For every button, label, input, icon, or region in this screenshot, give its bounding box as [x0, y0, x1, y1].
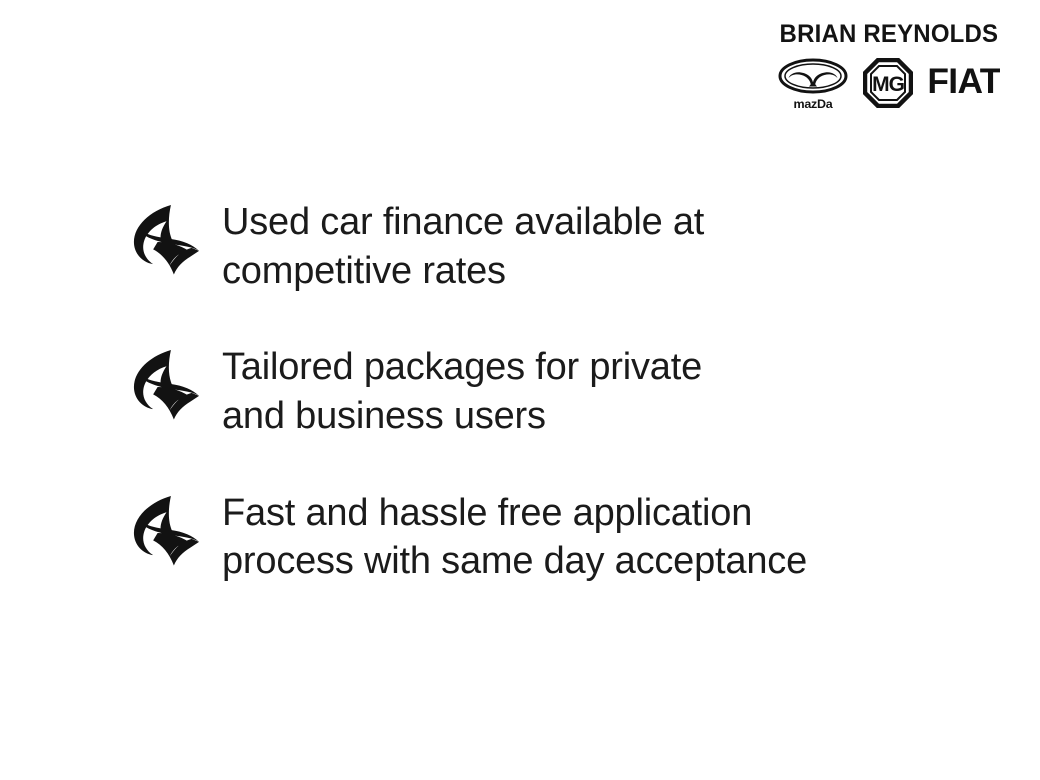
list-item-text: Used car finance available at competitiv… [222, 196, 988, 295]
curved-arrow-icon [128, 202, 202, 276]
svg-text:MG: MG [872, 73, 904, 96]
list-item: Tailored packages for private and busine… [128, 341, 988, 440]
mazda-logo: mazDa [778, 58, 848, 111]
curved-arrow-icon [128, 347, 202, 421]
list-item: Used car finance available at competitiv… [128, 196, 988, 295]
mazda-icon [778, 58, 848, 94]
list-item-text: Tailored packages for private and busine… [222, 341, 988, 440]
list-item: Fast and hassle free application process… [128, 487, 988, 586]
mazda-wordmark-icon: mazDa [780, 96, 846, 111]
dealer-name: BRIAN REYNOLDS [780, 22, 999, 47]
fiat-icon: FIAT [928, 58, 1000, 102]
dealer-branding: BRIAN REYNOLDS mazDa [778, 22, 1000, 111]
list-item-text: Fast and hassle free application process… [222, 487, 988, 586]
benefits-list: Used car finance available at competitiv… [128, 196, 988, 586]
fiat-logo: FIAT [928, 58, 1000, 102]
mg-logo: MG [863, 58, 913, 108]
svg-text:FIAT: FIAT [928, 62, 1000, 101]
mg-icon: MG [863, 58, 913, 108]
curved-arrow-icon [128, 493, 202, 567]
svg-text:mazDa: mazDa [794, 97, 833, 111]
slide-canvas: BRIAN REYNOLDS mazDa [0, 0, 1040, 780]
brand-logo-row: mazDa MG FIAT [778, 58, 1000, 111]
